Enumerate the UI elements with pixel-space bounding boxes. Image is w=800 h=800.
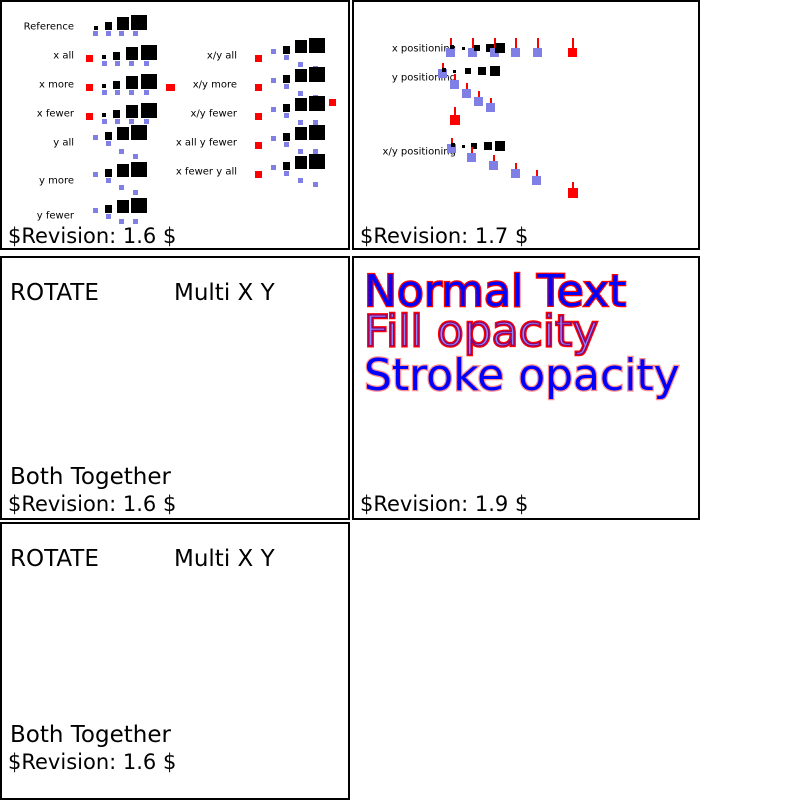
row-label-y-all: y all xyxy=(2,138,74,149)
heading-rotate-b-right: Multi X Y xyxy=(174,546,275,572)
row-label-y-fewer: y fewer xyxy=(2,211,74,222)
row-label-x-more: x more xyxy=(2,80,74,91)
row-label-x-fewer: x fewer xyxy=(2,109,74,120)
panel-text-rotate-b: ROTATE Multi X Y Both Together $Revision… xyxy=(0,522,350,800)
row-label-x-all: x all xyxy=(2,51,74,62)
panel-text-align: Reference x all x more x fewer y all y m… xyxy=(0,0,350,250)
row-label-xy-positioning: x/y positioning xyxy=(362,147,456,158)
panel-text-rotate-a: ROTATE Multi X Y Both Together $Revision… xyxy=(0,256,350,520)
revision-text-align: $Revision: 1.6 $ xyxy=(8,224,176,248)
row-label-x-all-y-fewer: x all y fewer xyxy=(142,138,237,149)
panel-text-opacity: Normal Text Fill opacity Stroke opacity … xyxy=(352,256,700,520)
row-label-xy-fewer: x/y fewer xyxy=(157,109,237,120)
row-label-xy-all: x/y all xyxy=(157,51,237,62)
opacity-line-fill: Fill opacity xyxy=(364,310,598,354)
opacity-line-stroke: Stroke opacity xyxy=(364,354,680,398)
heading-rotate-a-left: ROTATE xyxy=(10,280,99,306)
revision-text-rotate-b: $Revision: 1.6 $ xyxy=(8,750,176,774)
row-label-x-positioning: x positioning xyxy=(366,44,456,55)
revision-text-positioning: $Revision: 1.7 $ xyxy=(360,224,528,248)
test-contact-sheet: Reference x all x more x fewer y all y m… xyxy=(0,0,800,800)
revision-text-opacity: $Revision: 1.9 $ xyxy=(360,492,528,516)
row-label-reference: Reference xyxy=(2,22,74,33)
heading-rotate-a-bottom: Both Together xyxy=(10,464,171,490)
row-label-x-fewer-y-all: x fewer y all xyxy=(142,167,237,178)
heading-rotate-a-right: Multi X Y xyxy=(174,280,275,306)
heading-rotate-b-left: ROTATE xyxy=(10,546,99,572)
revision-text-rotate-a: $Revision: 1.6 $ xyxy=(8,492,176,516)
panel-text-positioning: x positioning y positioning x/y position… xyxy=(352,0,700,250)
row-label-y-more: y more xyxy=(2,176,74,187)
heading-rotate-b-bottom: Both Together xyxy=(10,722,171,748)
